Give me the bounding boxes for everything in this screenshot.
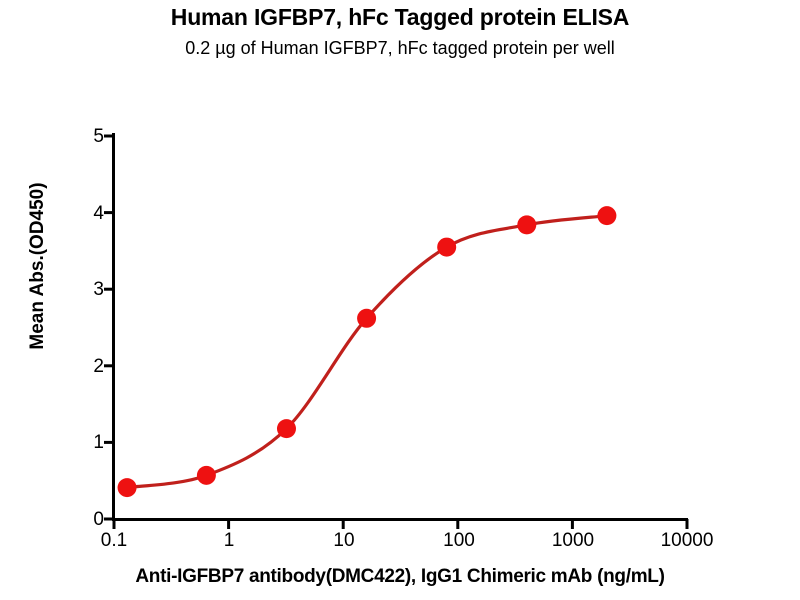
data-point (597, 206, 616, 225)
series-markers-anti-igfbp7 (118, 206, 617, 497)
series-line-anti-igfbp7 (127, 216, 607, 488)
elisa-chart-figure: Human IGFBP7, hFc Tagged protein ELISA 0… (0, 0, 800, 600)
data-point (197, 466, 216, 485)
chart-plot-area (0, 0, 800, 600)
data-point (517, 215, 536, 234)
data-point (357, 309, 376, 328)
data-point (118, 478, 137, 497)
data-point (277, 419, 296, 438)
data-point (437, 238, 456, 257)
